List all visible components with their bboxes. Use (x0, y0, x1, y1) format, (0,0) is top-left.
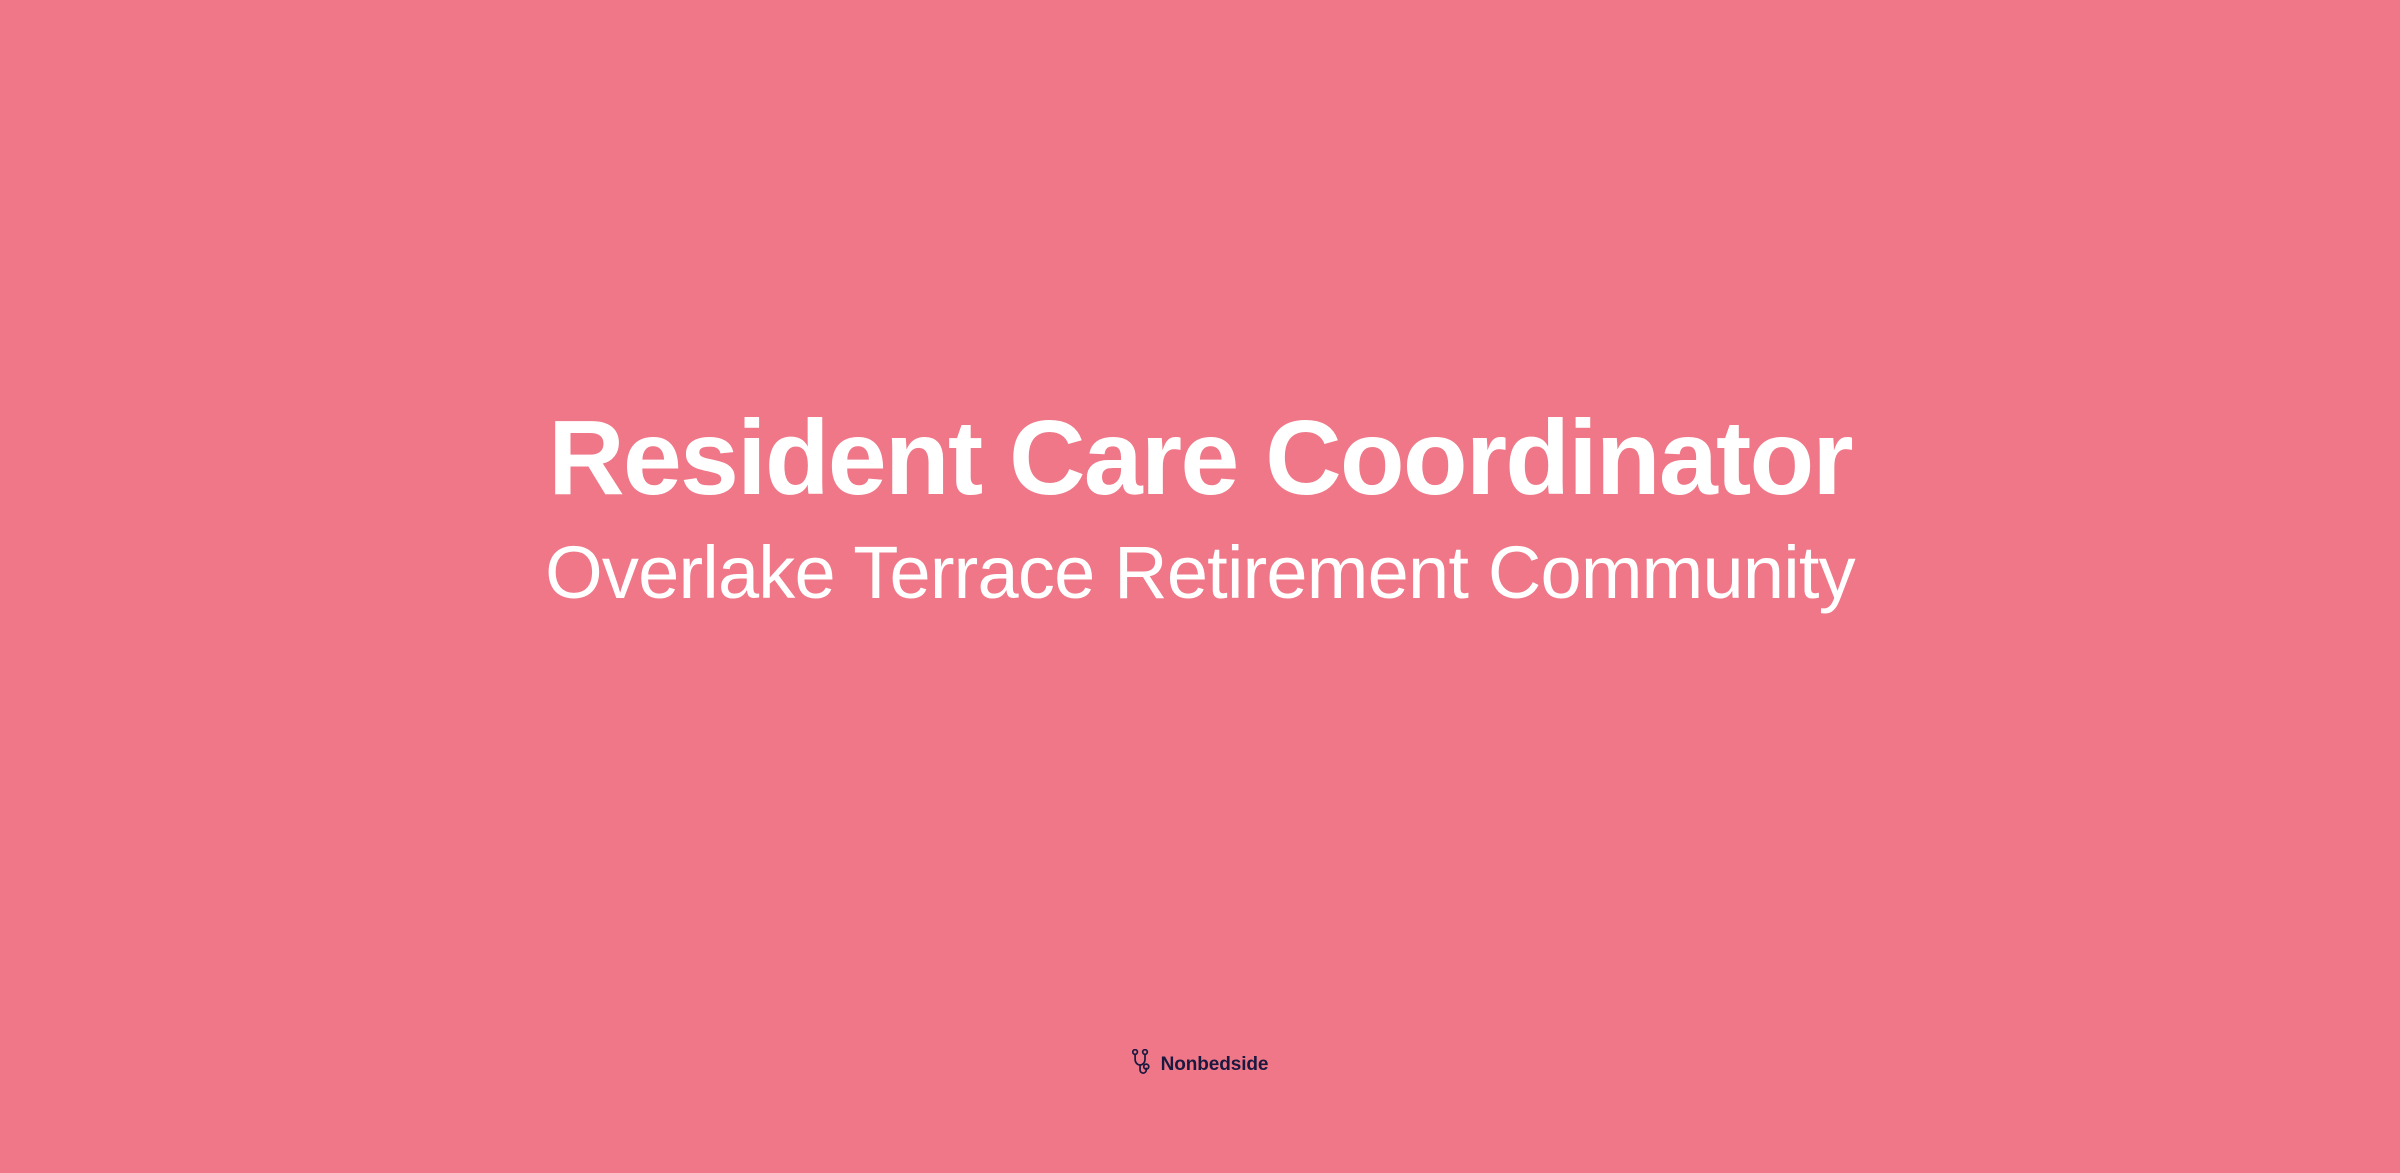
brand-lockup: Nonbedside (0, 1049, 2400, 1079)
brand-name: Nonbedside (1161, 1055, 1269, 1074)
page-subtitle: Overlake Terrace Retirement Community (545, 529, 1855, 618)
title-block: Resident Care Coordinator Overlake Terra… (0, 398, 2400, 618)
title-slide: Resident Care Coordinator Overlake Terra… (0, 0, 2400, 1173)
stethoscope-icon (1132, 1049, 1154, 1079)
page-title: Resident Care Coordinator (548, 398, 1852, 519)
